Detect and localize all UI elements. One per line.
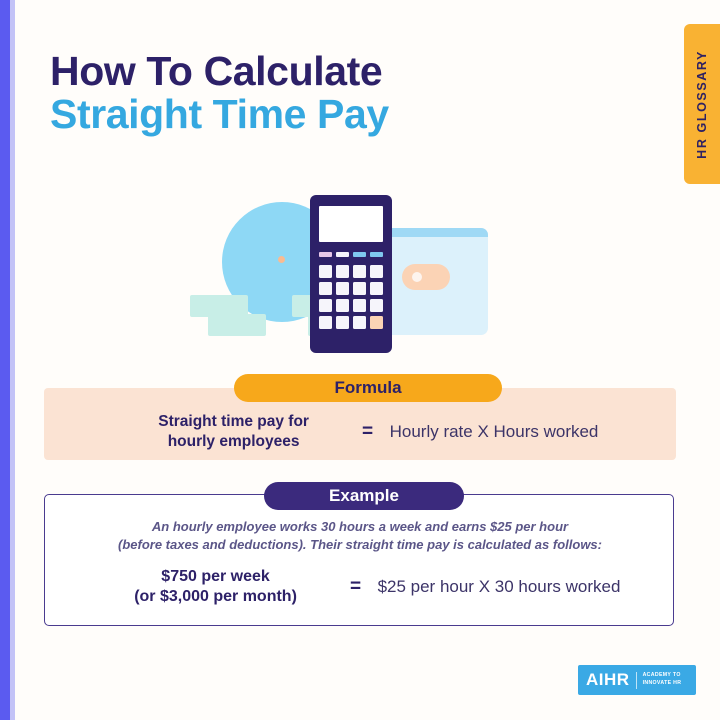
hr-glossary-tab-label: HR GLOSSARY xyxy=(695,50,709,159)
left-edge-stripe-soft xyxy=(10,0,15,720)
calculator-key xyxy=(319,316,332,329)
page-title-line2: Straight Time Pay xyxy=(50,93,389,136)
formula-left-line1: Straight time pay for xyxy=(158,413,309,430)
calculator-key xyxy=(353,282,366,295)
example-left-line1: $750 per week xyxy=(161,568,270,585)
hr-glossary-tab[interactable]: HR GLOSSARY xyxy=(684,24,720,184)
calculator-wallet-illustration xyxy=(180,190,540,370)
calculator-key xyxy=(319,299,332,312)
formula-row: Straight time pay for hourly employees =… xyxy=(44,404,676,460)
calculator-key xyxy=(336,265,349,278)
formula-equals-sign: = xyxy=(346,421,390,443)
calculator-function-key xyxy=(336,252,349,257)
wallet-clasp-dot xyxy=(412,272,422,282)
formula-pill-label: Formula xyxy=(334,378,401,398)
wallet-clasp xyxy=(402,264,450,290)
example-left-line2: (or $3,000 per month) xyxy=(134,588,297,605)
aihr-logo-mark: AIHR xyxy=(586,670,630,690)
calculator-function-key xyxy=(370,252,383,257)
calculator-key xyxy=(319,265,332,278)
calculator-key xyxy=(319,282,332,295)
aihr-logo-tagline: ACADEMY TO INNOVATE HR xyxy=(643,672,682,688)
calculator-function-row xyxy=(319,252,383,257)
example-row: $750 per week (or $3,000 per month) = $2… xyxy=(44,560,674,614)
formula-left-line2: hourly employees xyxy=(168,433,300,450)
calculator-key xyxy=(336,282,349,295)
page-title: How To Calculate Straight Time Pay xyxy=(50,50,389,137)
aihr-logo-tagline-line1: ACADEMY TO xyxy=(643,672,681,678)
calculator-icon xyxy=(310,195,392,353)
example-right-expression: $25 per hour X 30 hours worked xyxy=(378,577,621,597)
calculator-key xyxy=(370,282,383,295)
calculator-key xyxy=(370,299,383,312)
calculator-function-key xyxy=(319,252,332,257)
example-pill-label: Example xyxy=(329,486,399,506)
calculator-key xyxy=(353,265,366,278)
example-description-line1: An hourly employee works 30 hours a week… xyxy=(152,519,568,534)
calculator-screen xyxy=(319,206,383,242)
calculator-key xyxy=(353,299,366,312)
page-title-line1: How To Calculate xyxy=(50,50,389,93)
aihr-logo-tagline-line2: INNOVATE HR xyxy=(643,680,682,686)
calculator-key xyxy=(336,316,349,329)
calculator-key-equals xyxy=(370,316,383,329)
example-left-result: $750 per week (or $3,000 per month) xyxy=(98,567,334,607)
calculator-function-key xyxy=(353,252,366,257)
formula-left-label: Straight time pay for hourly employees xyxy=(122,412,346,452)
formula-pill: Formula xyxy=(234,374,502,402)
calculator-key xyxy=(353,316,366,329)
decorative-circle-dot xyxy=(278,256,285,263)
calculator-key xyxy=(370,265,383,278)
formula-right-expression: Hourly rate X Hours worked xyxy=(390,422,599,442)
calculator-keypad xyxy=(319,265,383,329)
example-pill: Example xyxy=(264,482,464,510)
left-edge-stripe xyxy=(0,0,10,720)
infographic-poster: HR GLOSSARY How To Calculate Straight Ti… xyxy=(0,0,720,720)
aihr-logo-divider xyxy=(636,672,637,689)
example-description-line2: (before taxes and deductions). Their str… xyxy=(118,537,602,552)
aihr-logo[interactable]: AIHR ACADEMY TO INNOVATE HR xyxy=(578,665,696,695)
calculator-key xyxy=(336,299,349,312)
decorative-mint-bar xyxy=(208,314,266,336)
example-description: An hourly employee works 30 hours a week… xyxy=(54,518,666,555)
example-equals-sign: = xyxy=(334,576,378,598)
